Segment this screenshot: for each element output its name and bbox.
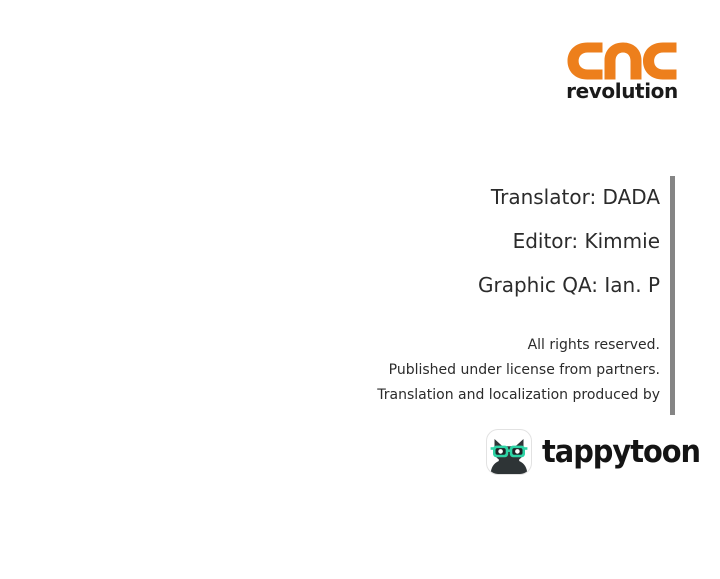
cnc-letterforms-icon [566, 40, 678, 82]
cnc-revolution-wordmark: revolution [566, 81, 678, 101]
legal-rights-reserved: All rights reserved. [160, 333, 660, 358]
cnc-logomark [566, 40, 678, 82]
credits-page: revolution Translator: DADA Editor: Kimm… [0, 0, 720, 579]
vertical-divider-bar [670, 176, 675, 415]
tappytoon-logo: tappytoon [486, 428, 676, 476]
legal-license: Published under license from partners. [160, 358, 660, 383]
credits-block: Translator: DADA Editor: Kimmie Graphic … [200, 175, 660, 307]
tappytoon-wordmark: tappytoon [542, 437, 700, 468]
credit-editor: Editor: Kimmie [200, 219, 660, 263]
cnc-revolution-logo: revolution [566, 40, 678, 106]
credit-graphic-qa: Graphic QA: Ian. P [200, 263, 660, 307]
legal-block: All rights reserved. Published under lic… [160, 333, 660, 408]
tappytoon-badge [486, 429, 532, 475]
legal-localization: Translation and localization produced by [160, 383, 660, 408]
cat-with-glasses-icon [487, 430, 531, 474]
credit-translator: Translator: DADA [200, 175, 660, 219]
